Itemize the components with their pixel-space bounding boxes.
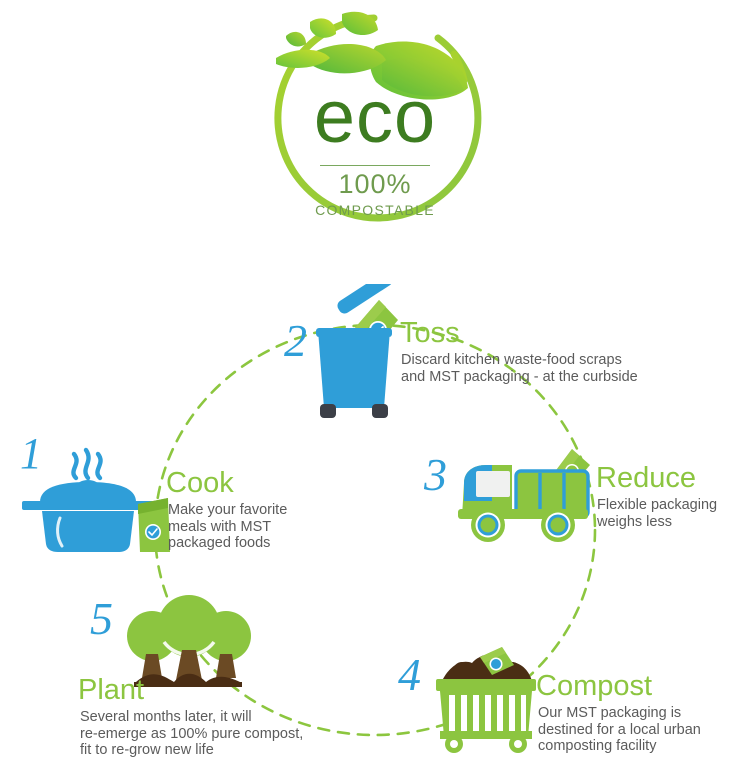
eco-logo: eco 100% COMPOSTABLE — [258, 2, 492, 234]
step-desc-toss: Discard kitchen waste-food scraps and MS… — [401, 352, 721, 385]
eco-logo-percent: 100% — [258, 169, 492, 200]
eco-logo-divider — [320, 165, 430, 166]
trees-icon — [126, 590, 252, 688]
step-title-compost: Compost — [536, 671, 652, 701]
trash-bin-icon — [300, 284, 402, 420]
step-number-3: 3 — [424, 452, 447, 498]
leaf-sprout-b — [310, 18, 336, 37]
step-title-cook: Cook — [166, 468, 234, 498]
step-desc-cook: Make your favorite meals with MST packag… — [168, 502, 348, 552]
step-title-reduce: Reduce — [596, 463, 696, 493]
step-desc-compost: Our MST packaging is destined for a loca… — [538, 705, 738, 755]
step-number-4: 4 — [398, 652, 421, 698]
step-number-5: 5 — [90, 596, 113, 642]
cooking-pot-icon — [22, 440, 172, 555]
step-desc-reduce: Flexible packaging weighs less — [597, 497, 747, 530]
compost-bin-icon — [428, 643, 548, 755]
step-title-plant: Plant — [78, 675, 144, 705]
garbage-truck-icon — [452, 443, 592, 551]
eco-logo-word: eco — [258, 80, 492, 154]
infographic-canvas: eco 100% COMPOSTABLE 1 — [0, 0, 750, 779]
step-title-toss: Toss — [400, 318, 460, 348]
leaf-sprout-c — [286, 32, 306, 47]
step-desc-plant: Several months later, it will re-emerge … — [80, 709, 340, 759]
eco-logo-subtitle: COMPOSTABLE — [258, 202, 492, 218]
